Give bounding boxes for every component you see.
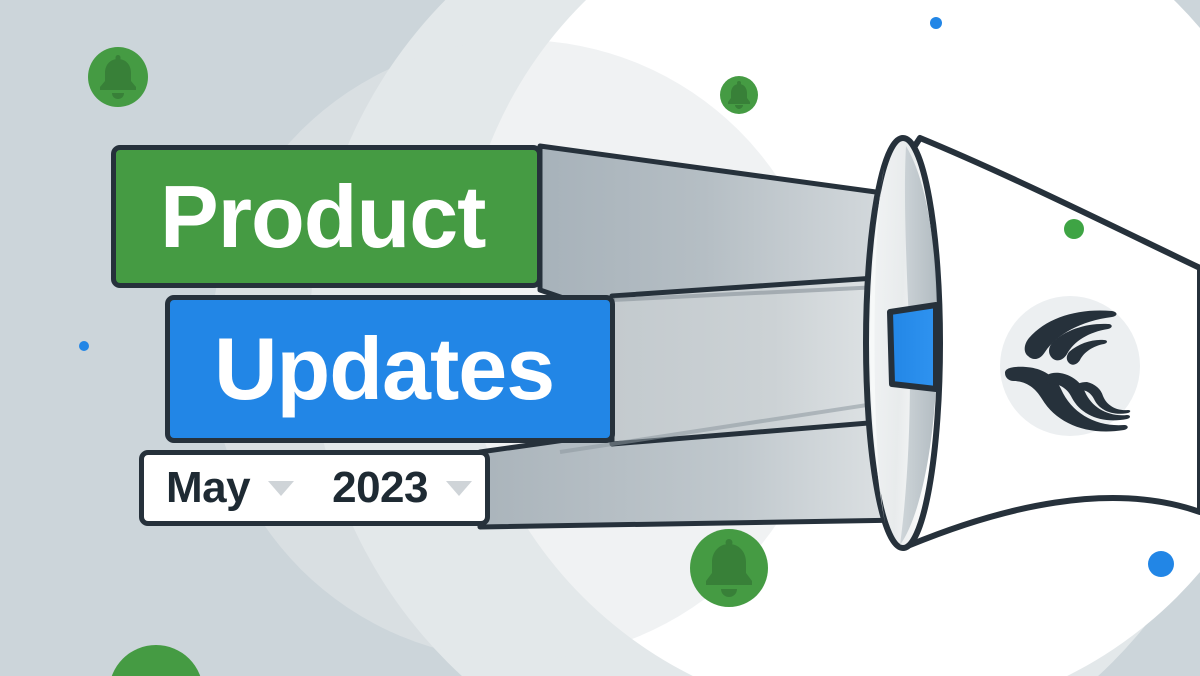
- bell-badge-top-left: [88, 47, 148, 107]
- bell-badge-bottom-center: [690, 529, 768, 607]
- banner-product-label: Product: [160, 166, 485, 268]
- date-selector[interactable]: May 2023: [139, 450, 490, 526]
- beam-slab-middle: [612, 276, 905, 444]
- year-dropdown[interactable]: 2023: [294, 463, 472, 513]
- dot-blue-left: [79, 341, 89, 351]
- announcement-banner-canvas: Product Updates May 2023: [0, 0, 1200, 676]
- circle-green-bottom-left: [109, 645, 203, 676]
- banner-updates: Updates: [165, 295, 615, 443]
- banner-updates-label: Updates: [214, 318, 554, 420]
- month-value: May: [166, 463, 268, 513]
- dot-blue-top-right: [930, 17, 942, 29]
- dot-green-on-cone: [1064, 219, 1084, 239]
- year-value: 2023: [294, 463, 446, 513]
- chevron-down-icon-month[interactable]: [268, 481, 294, 496]
- month-dropdown[interactable]: May: [166, 463, 294, 513]
- bell-badge-top-center: [720, 76, 758, 114]
- banner-product: Product: [111, 145, 542, 288]
- megaphone-mouthpiece: [890, 305, 936, 389]
- megaphone-illustration: [866, 138, 1200, 548]
- dot-blue-bottom-right: [1148, 551, 1174, 577]
- chevron-down-icon-year[interactable]: [446, 481, 472, 496]
